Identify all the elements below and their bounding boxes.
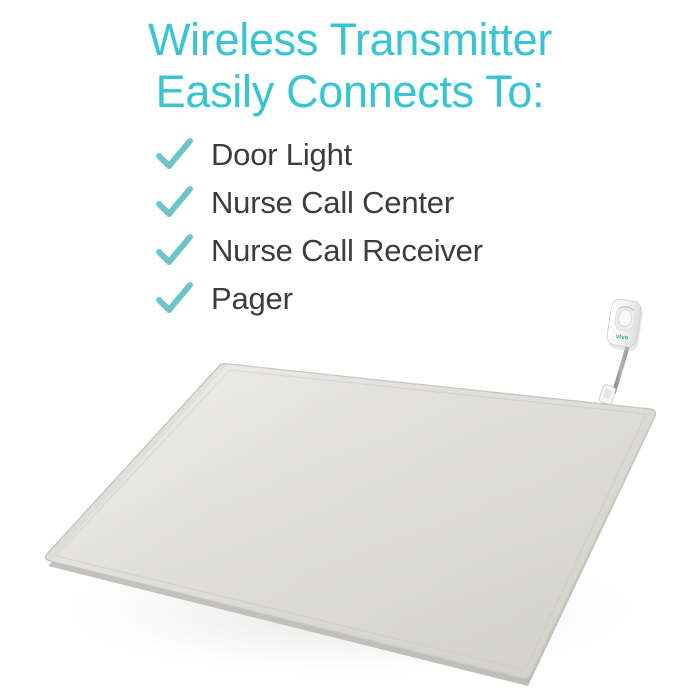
headline-line-1: Wireless Transmitter [0,14,700,66]
list-item: Nurse Call Center [155,179,625,227]
product-photo: vive SENSOR FLOOR MAT FOR USE WITH WIREL… [0,280,700,700]
check-icon [155,234,197,268]
headline-line-2: Easily Connects To: [0,66,700,118]
list-item: Nurse Call Receiver [155,227,625,275]
product-marketing-image: Wireless Transmitter Easily Connects To:… [0,0,700,700]
list-item-label: Nurse Call Receiver [211,233,483,269]
list-item-label: Nurse Call Center [211,185,454,221]
page-title: Wireless Transmitter Easily Connects To: [0,14,700,118]
list-item: Door Light [155,131,625,179]
check-icon [155,186,197,220]
wireless-transmitter: vive [605,298,644,352]
check-icon [155,138,197,172]
cable-connector [598,384,616,405]
list-item-label: Door Light [211,137,352,173]
